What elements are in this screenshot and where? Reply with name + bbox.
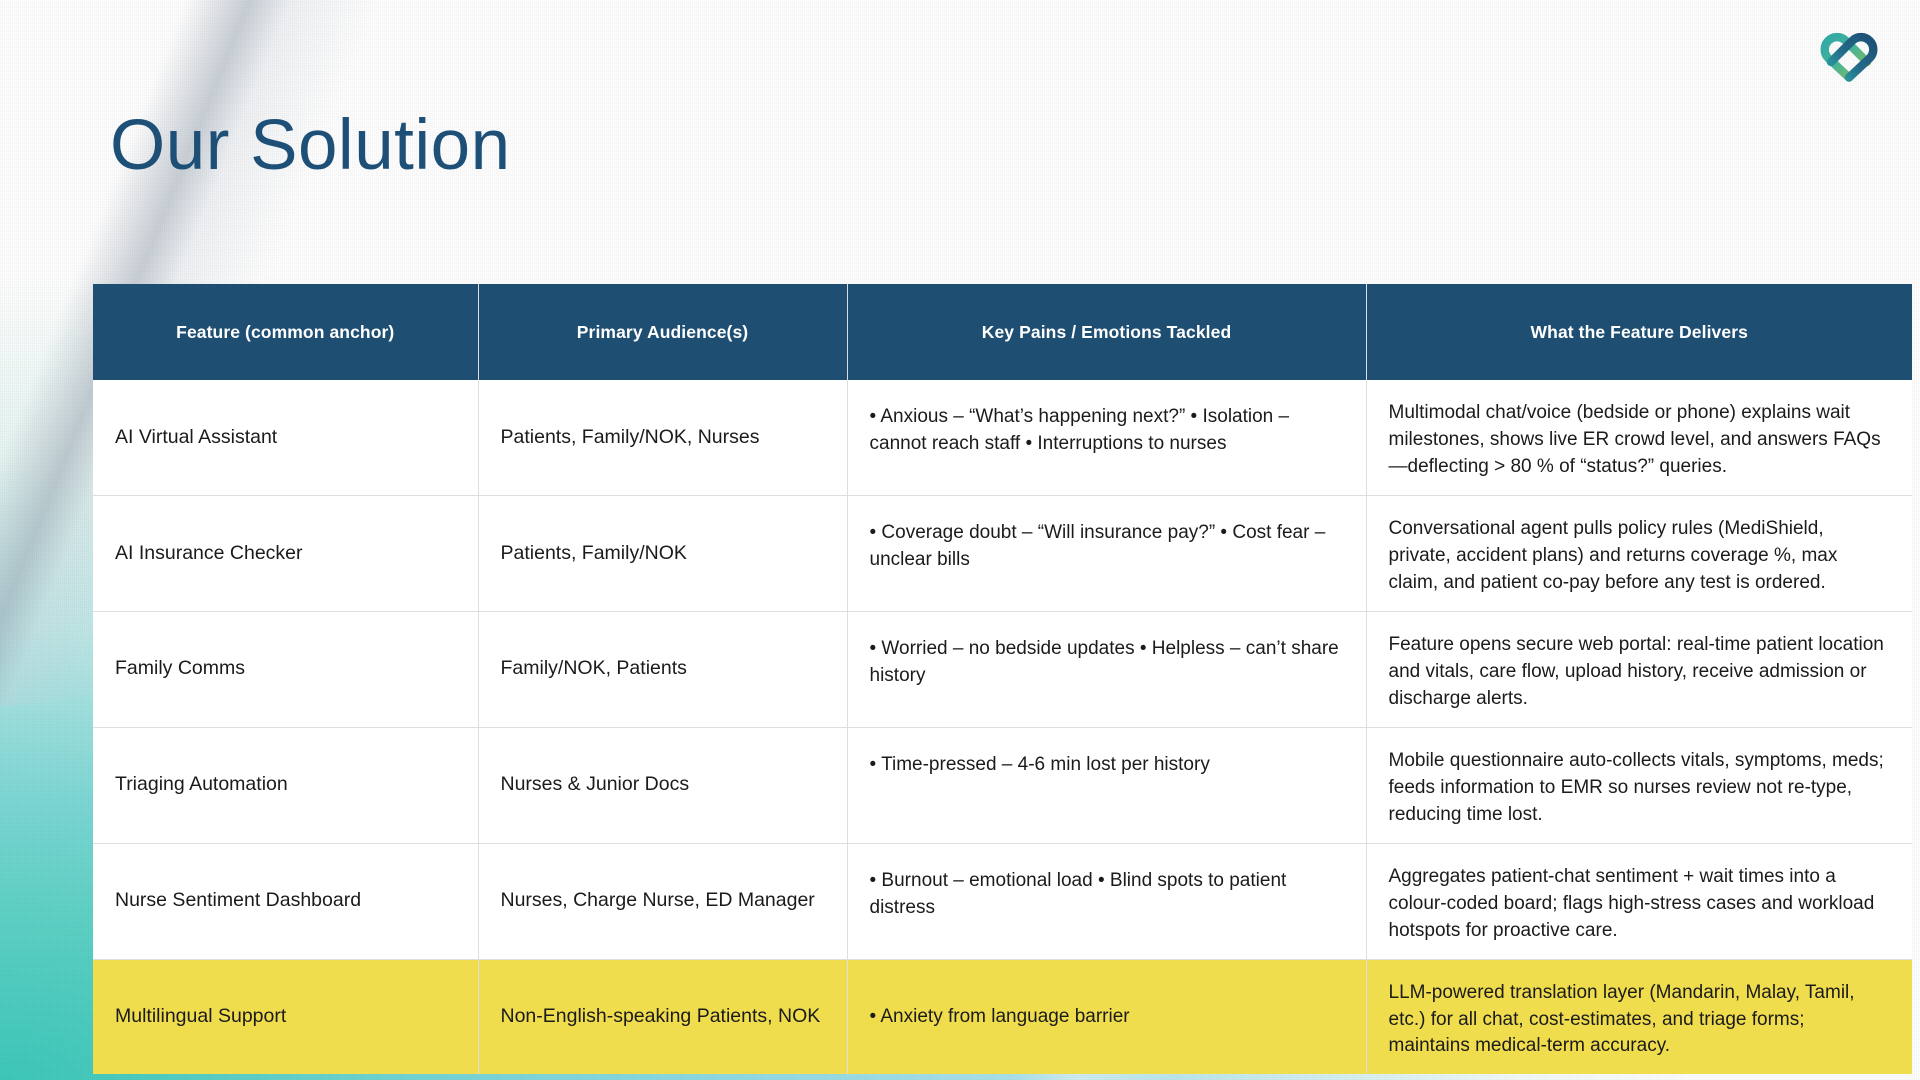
cell-pains: • Worried – no bedside updates • Helples… — [847, 611, 1366, 727]
cell-pains: • Anxiety from language barrier — [847, 959, 1366, 1074]
cell-delivers: Aggregates patient-chat sentiment + wait… — [1366, 843, 1912, 959]
cell-feature: AI Virtual Assistant — [93, 380, 478, 495]
table-row: AI Insurance Checker Patients, Family/NO… — [93, 495, 1912, 611]
cell-feature: Multilingual Support — [93, 959, 478, 1074]
cell-audience: Patients, Family/NOK — [478, 495, 847, 611]
table-header-row: Feature (common anchor) Primary Audience… — [93, 284, 1912, 380]
cell-feature: Nurse Sentiment Dashboard — [93, 843, 478, 959]
cell-feature: Triaging Automation — [93, 727, 478, 843]
column-header-pains: Key Pains / Emotions Tackled — [847, 284, 1366, 380]
cell-pains: • Anxious – “What’s happening next?” • I… — [847, 380, 1366, 495]
cell-audience: Nurses, Charge Nurse, ED Manager — [478, 843, 847, 959]
page-title: Our Solution — [110, 110, 511, 181]
table-row: Family Comms Family/NOK, Patients • Worr… — [93, 611, 1912, 727]
cell-feature: AI Insurance Checker — [93, 495, 478, 611]
column-header-delivers: What the Feature Delivers — [1366, 284, 1912, 380]
cell-audience: Non-English-speaking Patients, NOK — [478, 959, 847, 1074]
cell-feature: Family Comms — [93, 611, 478, 727]
table-body: AI Virtual Assistant Patients, Family/NO… — [93, 380, 1912, 1074]
feature-table-container: Feature (common anchor) Primary Audience… — [93, 284, 1912, 1074]
table-row: Nurse Sentiment Dashboard Nurses, Charge… — [93, 843, 1912, 959]
table-header: Feature (common anchor) Primary Audience… — [93, 284, 1912, 380]
interlocking-knot-logo — [1816, 22, 1882, 84]
cell-audience: Family/NOK, Patients — [478, 611, 847, 727]
cell-audience: Patients, Family/NOK, Nurses — [478, 380, 847, 495]
cell-audience: Nurses & Junior Docs — [478, 727, 847, 843]
table-row-highlighted: Multilingual Support Non-English-speakin… — [93, 959, 1912, 1074]
cell-pains: • Time-pressed – 4-6 min lost per histor… — [847, 727, 1366, 843]
cell-delivers: Conversational agent pulls policy rules … — [1366, 495, 1912, 611]
cell-pains: • Coverage doubt – “Will insurance pay?”… — [847, 495, 1366, 611]
slide-canvas: Our Solution Feature (common anchor) Pri… — [0, 0, 1920, 1080]
table-row: Triaging Automation Nurses & Junior Docs… — [93, 727, 1912, 843]
table-row: AI Virtual Assistant Patients, Family/NO… — [93, 380, 1912, 495]
column-header-audience: Primary Audience(s) — [478, 284, 847, 380]
cell-delivers: Feature opens secure web portal: real-ti… — [1366, 611, 1912, 727]
cell-delivers: LLM-powered translation layer (Mandarin,… — [1366, 959, 1912, 1074]
feature-table: Feature (common anchor) Primary Audience… — [93, 284, 1912, 1074]
cell-delivers: Mobile questionnaire auto-collects vital… — [1366, 727, 1912, 843]
column-header-feature: Feature (common anchor) — [93, 284, 478, 380]
cell-delivers: Multimodal chat/voice (bedside or phone)… — [1366, 380, 1912, 495]
cell-pains: • Burnout – emotional load • Blind spots… — [847, 843, 1366, 959]
